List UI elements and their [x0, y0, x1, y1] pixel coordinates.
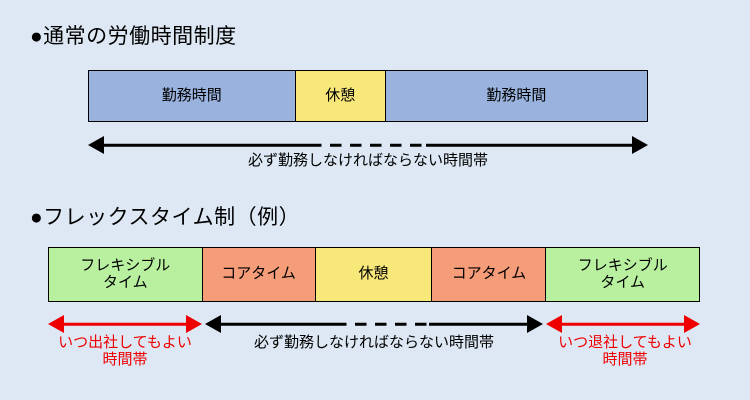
arrow-shaft-solid-left	[219, 323, 335, 326]
heading-flex-system: ●フレックスタイム制（例）	[30, 207, 300, 228]
arrow-head-right-icon	[527, 315, 543, 333]
segment-work-morning: 勤務時間	[89, 71, 296, 121]
arrow-shaft-dashed-middle	[335, 323, 429, 326]
arrow-head-right-icon	[186, 315, 202, 333]
segment-flexible-start: フレキシブル タイム	[49, 248, 203, 301]
caption-mandatory-work-span: 必ず勤務しなければならない時間帯	[88, 152, 648, 169]
diagram-canvas: ●通常の労働時間制度 勤務時間 休憩 勤務時間 必ず勤務しなければならない時間帯…	[0, 0, 750, 400]
arrow-shaft	[560, 323, 686, 326]
arrow-head-right-icon	[684, 315, 700, 333]
caption-flexible-end-span: いつ退社してもよい 時間帯	[512, 334, 738, 369]
caption-core-mandatory-span: 必ず勤務しなければならない時間帯	[205, 334, 543, 351]
arrow-shaft-solid-right	[426, 144, 634, 147]
segment-flexible-end: フレキシブル タイム	[546, 248, 699, 301]
segment-break: 休憩	[316, 248, 433, 301]
segment-work-afternoon: 勤務時間	[386, 71, 647, 121]
arrow-flexible-start-span	[48, 313, 202, 335]
segment-break: 休憩	[296, 71, 386, 121]
arrow-core-mandatory-span	[205, 313, 543, 335]
segment-core-morning: コアタイム	[203, 248, 316, 301]
arrow-flexible-end-span	[546, 313, 700, 335]
heading-normal-system: ●通常の労働時間制度	[30, 26, 237, 47]
arrow-shaft	[62, 323, 188, 326]
segment-core-afternoon: コアタイム	[432, 248, 546, 301]
arrow-shaft-solid-left	[102, 144, 310, 147]
arrow-shaft-dashed-middle	[310, 144, 426, 147]
flex-system-timeline: フレキシブル タイム コアタイム 休憩 コアタイム フレキシブル タイム	[48, 247, 700, 302]
normal-system-timeline: 勤務時間 休憩 勤務時間	[88, 70, 648, 122]
arrow-shaft-solid-right	[429, 323, 529, 326]
